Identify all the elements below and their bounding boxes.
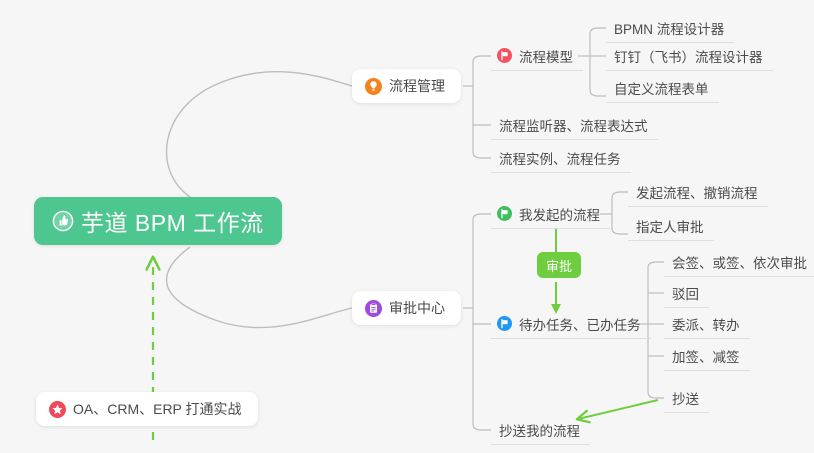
node-reject[interactable]: 驳回	[664, 278, 709, 308]
node-bpmn-designer[interactable]: BPMN 流程设计器	[606, 13, 734, 43]
edge-to-assignee-approval	[612, 228, 628, 234]
node-label: 自定义流程表单	[614, 78, 709, 98]
node-add-remove-sign[interactable]: 加签、减签	[664, 341, 750, 371]
edge-cc-to-cc-my-process	[578, 400, 658, 419]
flag-green-icon	[497, 206, 512, 221]
node-label: 流程监听器、流程表达式	[499, 115, 648, 135]
branch-approval-center[interactable]: 审批中心	[352, 291, 461, 325]
branch-label: 流程管理	[389, 76, 445, 96]
node-process-instance-task[interactable]: 流程实例、流程任务	[491, 143, 631, 173]
flag-red-icon	[497, 48, 512, 63]
bottom-note-label: OA、CRM、ERP 打通实战	[73, 399, 242, 419]
node-process-model[interactable]: 流程模型	[491, 41, 583, 71]
root-label: 芋道 BPM 工作流	[81, 204, 264, 238]
node-todo-done-tasks[interactable]: 待办任务、已办任务	[491, 309, 651, 339]
branch-label: 审批中心	[389, 298, 445, 318]
edge-to-bpmn-designer	[590, 28, 606, 34]
edge-to-counter-sign	[648, 262, 664, 268]
node-counter-or-sequential-sign[interactable]: 会签、或签、依次审批	[664, 247, 814, 277]
approval-flow-badge-label: 审批	[546, 256, 572, 275]
node-cc-my-process[interactable]: 抄送我的流程	[491, 415, 590, 445]
flag-blue-icon	[497, 316, 512, 331]
edge-to-cc-copy	[648, 392, 664, 398]
node-label: 流程模型	[519, 46, 573, 66]
node-label: 抄送我的流程	[499, 420, 580, 440]
node-process-listener-expression[interactable]: 流程监听器、流程表达式	[491, 110, 658, 140]
node-label: 委派、转办	[672, 314, 740, 334]
node-delegate-transfer[interactable]: 委派、转办	[664, 309, 750, 339]
edge-to-cc-my-process	[473, 424, 491, 430]
node-my-initiated-process[interactable]: 我发起的流程	[491, 199, 610, 229]
node-label: 指定人审批	[636, 216, 704, 236]
node-label: 待办任务、已办任务	[519, 314, 641, 334]
node-label: 发起流程、撤销流程	[636, 182, 758, 202]
node-label: 我发起的流程	[519, 204, 600, 224]
edge-root-to-process-management	[167, 72, 352, 197]
branch-process-management[interactable]: 流程管理	[352, 69, 461, 103]
approval-flow-badge: 审批	[537, 252, 581, 278]
edge-to-process-instance	[473, 152, 491, 158]
edge-to-process-model	[473, 56, 491, 62]
node-label: BPMN 流程设计器	[614, 18, 724, 38]
edge-to-start-cancel	[612, 192, 628, 198]
lightbulb-icon	[365, 78, 382, 95]
node-label: 流程实例、流程任务	[499, 148, 621, 168]
edge-root-to-approval-center	[167, 247, 352, 328]
node-start-cancel-process[interactable]: 发起流程、撤销流程	[628, 177, 768, 207]
star-icon	[49, 401, 66, 418]
node-label: 钉钉（飞书）流程设计器	[614, 46, 763, 66]
clipboard-icon	[365, 300, 382, 317]
node-assignee-approval[interactable]: 指定人审批	[628, 211, 714, 241]
edge-to-custom-form	[590, 90, 606, 96]
node-label: 抄送	[672, 388, 699, 408]
node-label: 加签、减签	[672, 346, 740, 366]
node-cc-copy[interactable]: 抄送	[664, 383, 709, 413]
node-dingtalk-feishu-designer[interactable]: 钉钉（飞书）流程设计器	[606, 41, 773, 71]
thumbs-up-icon	[52, 210, 74, 232]
node-custom-process-form[interactable]: 自定义流程表单	[606, 73, 719, 103]
node-label: 驳回	[672, 283, 699, 303]
root-node[interactable]: 芋道 BPM 工作流	[34, 197, 282, 245]
bottom-note[interactable]: OA、CRM、ERP 打通实战	[36, 392, 258, 426]
node-label: 会签、或签、依次审批	[672, 252, 807, 272]
mindmap-canvas: 芋道 BPM 工作流 流程管理 流程模型 BPMN 流程设计器 钉钉（飞书）流程	[0, 0, 814, 453]
edge-to-my-initiated	[473, 214, 491, 220]
